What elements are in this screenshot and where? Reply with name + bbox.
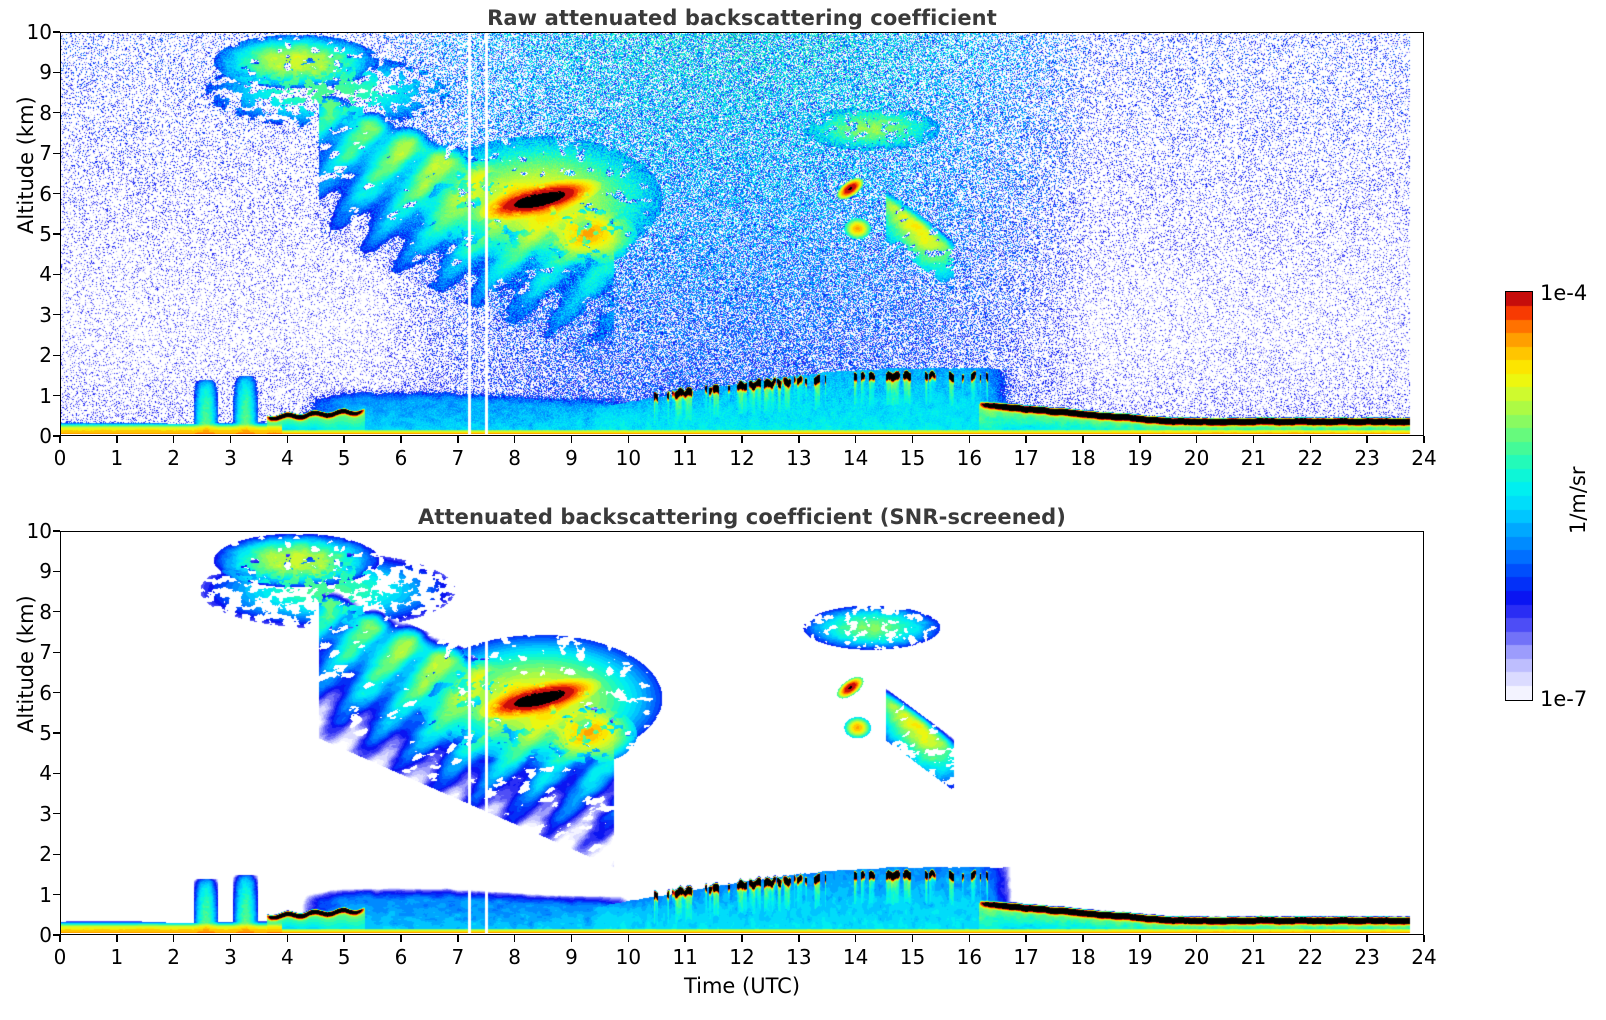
y-tick-label: 3 [12,802,52,826]
panel-raw-title: Raw attenuated backscattering coefficien… [60,6,1424,30]
x-tick-label: 8 [508,945,521,969]
y-tick-label: 5 [12,222,52,246]
x-tick [1310,436,1311,443]
x-tick [457,935,458,942]
x-tick-label: 0 [54,945,67,969]
x-tick [1310,935,1311,942]
x-tick-label: 15 [900,945,925,969]
y-tick [53,571,60,572]
x-tick-label: 20 [1184,446,1209,470]
x-tick [855,935,856,942]
x-tick-label: 18 [1070,945,1095,969]
x-tick-label: 11 [672,446,697,470]
x-tick [1139,935,1140,942]
x-tick [116,935,117,942]
x-tick [1366,436,1367,443]
y-tick-label: 1 [12,883,52,907]
plot-area-raw[interactable] [60,32,1424,436]
x-tick-label: 2 [167,446,180,470]
x-tick-label: 6 [395,945,408,969]
x-tick [855,436,856,443]
y-tick [53,530,60,531]
x-tick [1139,436,1140,443]
y-tick [53,193,60,194]
x-tick [571,935,572,942]
x-tick-label: 23 [1354,945,1379,969]
x-tick-label: 10 [616,446,641,470]
x-tick-label: 5 [338,446,351,470]
x-tick [59,436,60,443]
x-tick [1196,436,1197,443]
y-tick [53,773,60,774]
x-tick [1423,436,1424,443]
x-tick [1366,935,1367,942]
x-tick-label: 7 [451,446,464,470]
y-tick-label: 10 [12,519,52,543]
x-tick [1025,935,1026,942]
y-tick [53,732,60,733]
y-tick-label: 8 [12,600,52,624]
x-tick [741,436,742,443]
x-tick [173,436,174,443]
x-tick-label: 1 [110,446,123,470]
x-tick-label: 17 [1013,446,1038,470]
x-tick-label: 19 [1127,446,1152,470]
x-axis-label-time: Time (UTC) [684,974,800,998]
x-tick [1253,935,1254,942]
y-tick-label: 5 [12,721,52,745]
x-tick [400,436,401,443]
x-tick-label: 1 [110,945,123,969]
x-tick [1253,436,1254,443]
y-tick [53,395,60,396]
x-tick [912,436,913,443]
x-tick-label: 24 [1411,945,1436,969]
x-tick [287,935,288,942]
x-tick [628,436,629,443]
x-tick-label: 2 [167,945,180,969]
x-tick-label: 20 [1184,945,1209,969]
plot-area-screened[interactable] [60,531,1424,935]
y-tick [53,314,60,315]
x-tick-label: 22 [1298,945,1323,969]
x-tick-label: 13 [786,945,811,969]
x-tick [343,436,344,443]
x-tick-label: 4 [281,446,294,470]
colorbar-gradient[interactable] [1505,291,1533,701]
y-tick [53,233,60,234]
y-tick-label: 6 [12,681,52,705]
x-tick [969,935,970,942]
x-tick-label: 19 [1127,945,1152,969]
y-tick [53,435,60,436]
x-tick-label: 9 [565,446,578,470]
colorbar-unit-label: 1/m/sr [1566,466,1590,534]
y-tick [53,652,60,653]
x-tick-label: 8 [508,446,521,470]
x-tick [116,436,117,443]
x-tick-label: 14 [843,446,868,470]
x-tick-label: 22 [1298,446,1323,470]
x-tick-label: 14 [843,945,868,969]
y-tick [53,813,60,814]
x-tick-label: 7 [451,945,464,969]
y-tick-label: 7 [12,640,52,664]
x-tick-label: 18 [1070,446,1095,470]
x-tick-label: 21 [1241,945,1266,969]
x-tick [230,436,231,443]
x-tick [798,436,799,443]
y-tick-label: 9 [12,60,52,84]
x-tick [684,436,685,443]
x-tick [1025,436,1026,443]
x-tick-label: 5 [338,945,351,969]
x-tick [684,935,685,942]
y-tick [53,31,60,32]
x-tick [514,935,515,942]
x-tick [59,935,60,942]
y-tick [53,611,60,612]
y-tick-label: 2 [12,343,52,367]
x-tick-label: 6 [395,446,408,470]
colorbar-max-label: 1e-4 [1540,281,1587,305]
x-tick-label: 17 [1013,945,1038,969]
y-tick-label: 1 [12,384,52,408]
y-tick-label: 4 [12,761,52,785]
y-tick-label: 4 [12,262,52,286]
x-tick [287,436,288,443]
x-tick [1082,935,1083,942]
y-tick-label: 10 [12,20,52,44]
y-tick [53,72,60,73]
x-tick-label: 11 [672,945,697,969]
y-tick-label: 0 [12,923,52,947]
x-tick-label: 23 [1354,446,1379,470]
x-tick [173,935,174,942]
x-tick-label: 16 [957,446,982,470]
y-tick [53,153,60,154]
y-tick [53,692,60,693]
y-tick-label: 6 [12,182,52,206]
y-tick [53,274,60,275]
x-tick-label: 24 [1411,446,1436,470]
x-tick [1423,935,1424,942]
x-tick-label: 3 [224,446,237,470]
x-tick-label: 0 [54,446,67,470]
y-tick-label: 9 [12,559,52,583]
y-tick [53,894,60,895]
y-tick-label: 7 [12,141,52,165]
y-tick-label: 8 [12,101,52,125]
x-tick-label: 10 [616,945,641,969]
x-tick [969,436,970,443]
x-tick [514,436,515,443]
x-tick [1196,935,1197,942]
x-tick-label: 12 [729,945,754,969]
x-tick-label: 16 [957,945,982,969]
x-tick-label: 15 [900,446,925,470]
y-tick-label: 3 [12,303,52,327]
x-tick [457,436,458,443]
x-tick [343,935,344,942]
x-tick [1082,436,1083,443]
x-tick [741,935,742,942]
x-tick-label: 4 [281,945,294,969]
x-tick-label: 21 [1241,446,1266,470]
x-tick [628,935,629,942]
x-tick [798,935,799,942]
x-tick [912,935,913,942]
x-tick-label: 13 [786,446,811,470]
panel-screened-title: Attenuated backscattering coefficient (S… [60,505,1424,529]
colorbar-min-label: 1e-7 [1540,687,1587,711]
y-tick [53,112,60,113]
x-tick [571,436,572,443]
y-tick [53,934,60,935]
y-tick [53,355,60,356]
x-tick-label: 9 [565,945,578,969]
y-tick-label: 0 [12,424,52,448]
x-tick [400,935,401,942]
y-tick [53,854,60,855]
y-tick-label: 2 [12,842,52,866]
x-tick-label: 12 [729,446,754,470]
x-tick-label: 3 [224,945,237,969]
x-tick [230,935,231,942]
